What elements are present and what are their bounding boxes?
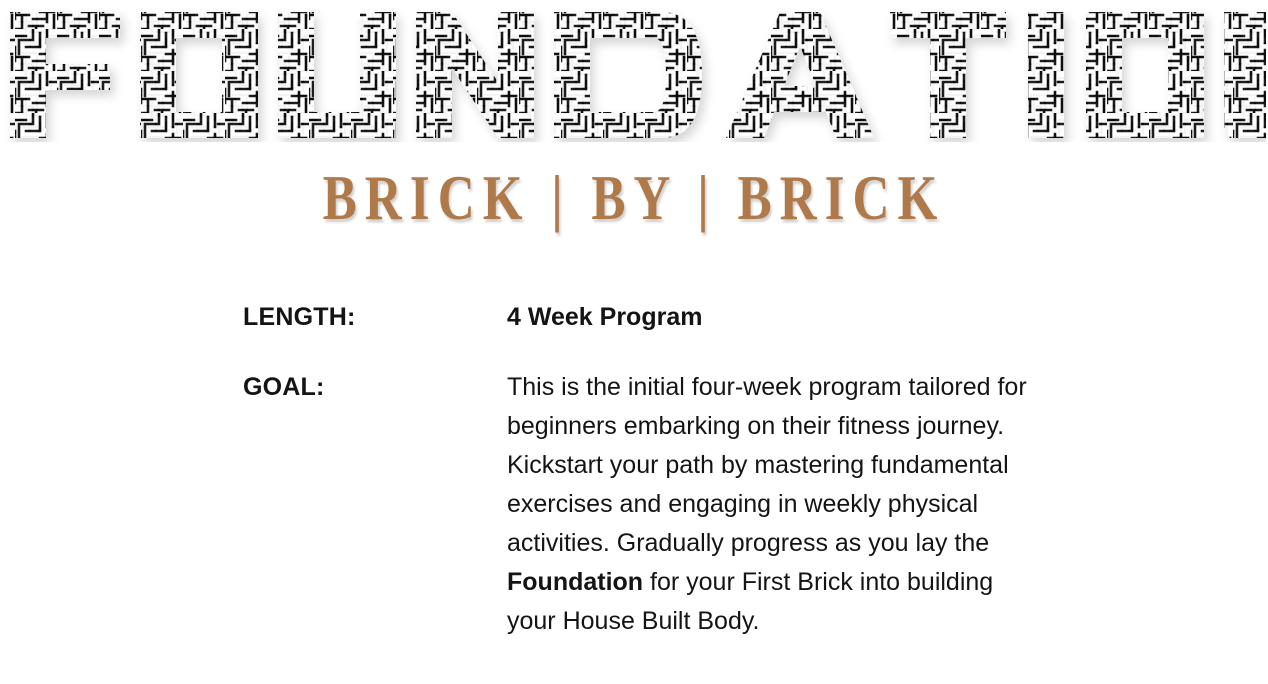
goal-value: This is the initial four-week program ta…	[507, 368, 1043, 641]
program-details: LENGTH: 4 Week Program GOAL: This is the…	[243, 298, 1043, 641]
goal-text-emphasis: Foundation	[507, 568, 643, 596]
length-value: 4 Week Program	[507, 298, 1043, 337]
detail-row-length: LENGTH: 4 Week Program	[243, 298, 1043, 337]
goal-paragraph: This is the initial four-week program ta…	[507, 368, 1043, 641]
goal-text-prefix: This is the initial four-week program ta…	[507, 373, 1027, 557]
foundation-maze-wordmark	[2, 8, 1266, 142]
title-band	[0, 0, 1268, 150]
goal-label: GOAL:	[243, 368, 507, 407]
detail-row-goal: GOAL: This is the initial four-week prog…	[243, 368, 1043, 641]
length-label: LENGTH:	[243, 298, 507, 337]
subtitle-brick-by-brick: BRICK | BY | BRICK	[127, 163, 1141, 233]
